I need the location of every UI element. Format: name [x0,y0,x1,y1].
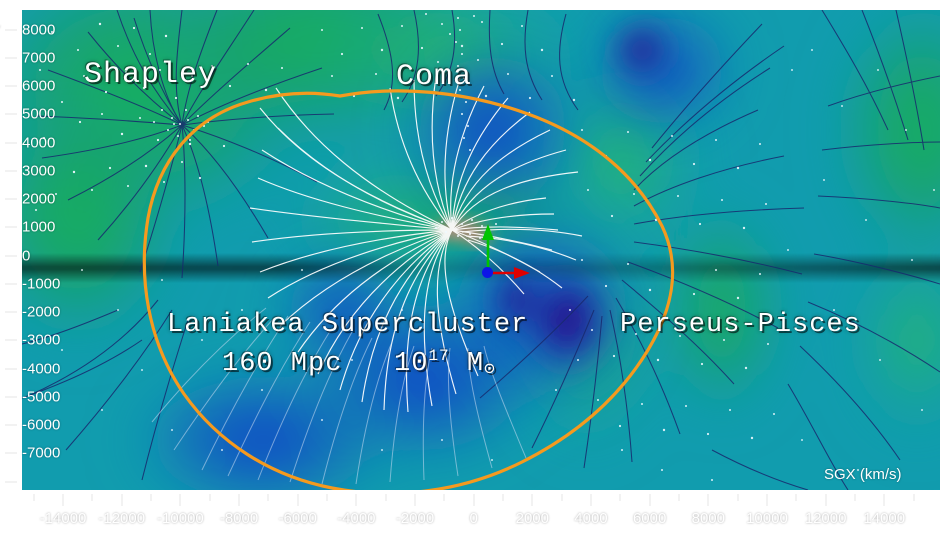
x-tick-minor [267,494,269,501]
x-tick-major [883,494,885,506]
y-tick-label: 3000 [22,162,55,179]
y-tick-major [5,57,17,59]
y-tick-major [5,339,17,341]
y-tick-major [5,198,17,200]
origin-marker-dot [482,267,493,278]
y-axis-title: SGY (km/s) [0,0,1,66]
x-tick-label: -4000 [337,510,375,527]
x-tick-label: 2000 [516,510,549,527]
y-tick-major [5,170,17,172]
y-tick-label: -3000 [22,332,60,349]
y-tick-label: 5000 [22,106,55,123]
y-tick-major [5,29,17,31]
y-tick-label: -5000 [22,388,60,405]
density-field [22,10,940,490]
x-tick-major [121,494,123,506]
laniakea-supercluster-figure: Shapley Coma Perseus-Pisces Laniakea Sup… [0,0,946,535]
x-axis-title: SGX (km/s) [824,466,902,483]
y-tick-major [5,113,17,115]
x-tick-minor [795,494,797,501]
x-tick-major [825,494,827,506]
x-tick-major [649,494,651,506]
y-tick-major [5,368,17,370]
x-tick-major [297,494,299,506]
x-tick-minor [737,494,739,501]
x-tick-major [531,494,533,506]
y-tick-label: -2000 [22,304,60,321]
x-tick-minor [150,494,152,501]
x-tick-major [473,494,475,506]
y-tick-label: -1000 [22,275,60,292]
x-tick-label: 0 [469,510,477,527]
y-tick-label: -4000 [22,360,60,377]
x-tick-label: -10000 [157,510,204,527]
x-tick-label: -8000 [220,510,258,527]
x-tick-label: -12000 [98,510,145,527]
x-tick-label: 10000 [746,510,788,527]
plot-area: Shapley Coma Perseus-Pisces Laniakea Sup… [22,10,940,490]
x-tick-label: -2000 [396,510,434,527]
x-tick-minor [385,494,387,501]
y-tick-major [5,85,17,87]
x-tick-major [62,494,64,506]
y-tick-major [5,424,17,426]
y-tick-label: 4000 [22,134,55,151]
x-tick-minor [913,494,915,501]
x-tick-major [355,494,357,506]
y-tick-label: -6000 [22,417,60,434]
x-tick-label: 4000 [574,510,607,527]
y-tick-label: 1000 [22,219,55,236]
x-tick-minor [561,494,563,501]
x-tick-minor [326,494,328,501]
x-tick-minor [209,494,211,501]
y-tick-label: 0 [22,247,30,264]
x-tick-minor [678,494,680,501]
x-tick-label: -14000 [40,510,87,527]
y-tick-major [5,142,17,144]
zone-of-avoidance-band [22,253,940,283]
x-tick-label: 12000 [805,510,847,527]
x-tick-label: 8000 [692,510,725,527]
x-tick-major [707,494,709,506]
x-tick-minor [502,494,504,501]
y-tick-label: -7000 [22,445,60,462]
x-tick-minor [619,494,621,501]
y-tick-label: 8000 [22,21,55,38]
x-tick-major [414,494,416,506]
y-tick-label: 7000 [22,50,55,67]
y-tick-major [5,255,17,257]
x-tick-label: 6000 [633,510,666,527]
y-tick-major [5,452,17,454]
y-tick-major [5,396,17,398]
x-tick-major [766,494,768,506]
x-tick-major [590,494,592,506]
x-tick-minor [33,494,35,501]
y-tick-major [5,481,17,483]
x-tick-label: -6000 [279,510,317,527]
x-tick-major [179,494,181,506]
y-tick-label: 2000 [22,191,55,208]
x-tick-minor [854,494,856,501]
y-tick-label: 6000 [22,78,55,95]
x-tick-minor [443,494,445,501]
x-tick-minor [91,494,93,501]
y-tick-major [5,226,17,228]
x-tick-label: 14000 [863,510,905,527]
y-tick-major [5,311,17,313]
y-tick-major [5,283,17,285]
x-tick-major [238,494,240,506]
